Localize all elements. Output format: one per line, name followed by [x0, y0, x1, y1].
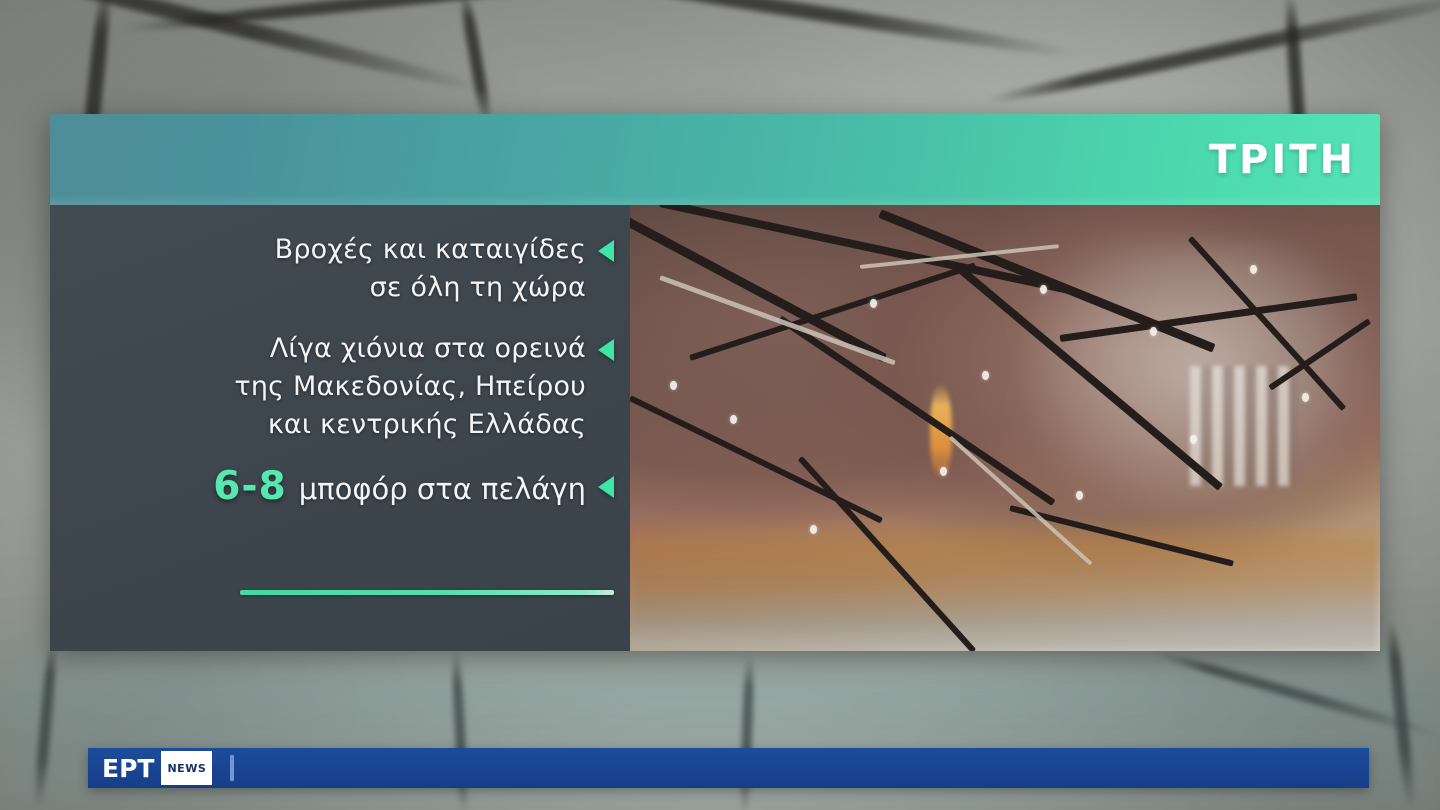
forecast-bullet-list: Βροχές και καταιγίδες σε όλη τη χώρα Λίγ…: [50, 231, 630, 506]
water-droplet: [810, 525, 817, 534]
forecast-bullet-item: Λίγα χιόνια στα ορεινά της Μακεδονίας, Η…: [50, 330, 630, 445]
weather-photo: [630, 205, 1380, 651]
forecast-bullet-item: Βροχές και καταιγίδες σε όλη τη χώρα: [50, 231, 630, 308]
forecast-bullet-text: Λίγα χιόνια στα ορεινά της Μακεδονίας, Η…: [234, 330, 586, 445]
forecast-bullet-line: και κεντρικής Ελλάδας: [234, 406, 586, 444]
left-triangle-marker-icon: [598, 476, 614, 498]
water-droplet: [870, 299, 877, 308]
water-droplet: [670, 381, 677, 390]
left-triangle-marker-icon: [598, 339, 614, 361]
forecast-info-panel: Βροχές και καταιγίδες σε όλη τη χώρα Λίγ…: [50, 205, 630, 651]
forecast-bullet-line: Λίγα χιόνια στα ορεινά: [234, 330, 586, 368]
accent-divider: [240, 590, 614, 595]
screenshot-root: ΤΡΙΤΗ Βροχές και καταιγίδες σε όλη τη χώ…: [0, 0, 1440, 810]
weather-card-header: ΤΡΙΤΗ: [50, 114, 1380, 205]
wind-bullet-item: 6-8 μποφόρ στα πελάγη: [50, 467, 630, 506]
forecast-bullet-text: Βροχές και καταιγίδες σε όλη τη χώρα: [275, 231, 586, 308]
wind-beaufort-label: μποφόρ στα πελάγη: [299, 475, 586, 504]
left-triangle-marker-icon: [598, 240, 614, 262]
forecast-bullet-line: της Μακεδονίας, Ηπείρου: [234, 368, 586, 406]
weather-card-body: Βροχές και καταιγίδες σε όλη τη χώρα Λίγ…: [50, 205, 1380, 651]
forecast-bullet-line: Βροχές και καταιγίδες: [275, 231, 586, 269]
forecast-bullet-line: σε όλη τη χώρα: [275, 269, 586, 307]
news-ticker-bar: ΕΡΤ NEWS: [88, 748, 1369, 788]
ert-logo-text: ΕΡΤ: [102, 756, 161, 781]
water-droplet: [1302, 393, 1309, 402]
weekday-label: ΤΡΙΤΗ: [1209, 140, 1356, 180]
water-droplet: [1040, 285, 1047, 294]
water-droplet: [1250, 265, 1257, 274]
news-bar-divider: [230, 755, 234, 781]
wind-beaufort-value: 6-8: [213, 467, 286, 506]
wind-line: 6-8 μποφόρ στα πελάγη: [213, 467, 586, 506]
ert-news-badge: NEWS: [161, 751, 212, 785]
water-droplet: [940, 467, 947, 476]
ert-logo: ΕΡΤ NEWS: [102, 748, 212, 788]
photo-foreground-grass: [630, 517, 1380, 651]
water-droplet: [1076, 491, 1083, 500]
weather-card: ΤΡΙΤΗ Βροχές και καταιγίδες σε όλη τη χώ…: [50, 114, 1380, 651]
water-droplet: [730, 415, 737, 424]
water-droplet: [1150, 327, 1157, 336]
water-droplet: [1190, 435, 1197, 444]
water-droplet: [982, 371, 989, 380]
